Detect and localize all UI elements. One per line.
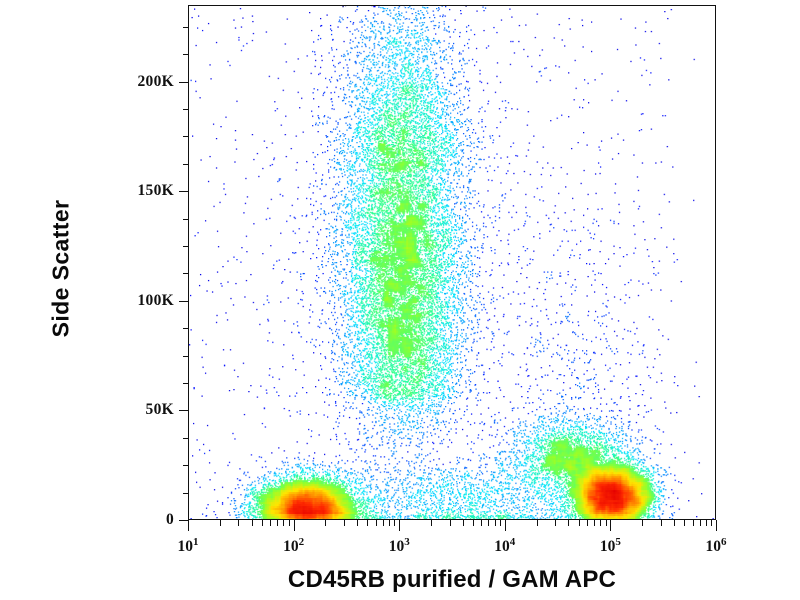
x-tick-minor [594, 520, 595, 526]
x-tick-minor [674, 520, 675, 526]
x-tick-minor [394, 520, 395, 526]
x-tick-minor [252, 520, 253, 526]
x-tick-minor [555, 520, 556, 526]
x-tick-major [294, 520, 295, 531]
x-tick-exponent: 5 [615, 536, 621, 548]
x-tick-minor [537, 520, 538, 526]
x-tick-minor [579, 520, 580, 526]
y-tick-major [179, 82, 188, 83]
flow-cytometry-dot-plot: Side Scatter 050K100K150K200K 1011021031… [0, 0, 800, 600]
x-tick-label: 103 [389, 536, 410, 556]
x-tick-exponent: 3 [404, 536, 410, 548]
x-tick-minor [642, 520, 643, 526]
x-tick-minor [389, 520, 390, 526]
x-tick-major [610, 520, 611, 531]
x-tick-minor [606, 520, 607, 526]
x-tick-major [399, 520, 400, 531]
x-tick-minor [700, 520, 701, 526]
x-tick-minor [283, 520, 284, 526]
x-tick-exponent: 2 [299, 536, 305, 548]
y-tick-major [179, 410, 188, 411]
x-tick-minor [325, 520, 326, 526]
scatter-point-cloud [189, 6, 715, 519]
x-axis: 101102103104105106 CD45RB purified / GAM… [0, 520, 800, 600]
x-axis-title: CD45RB purified / GAM APC [188, 566, 716, 594]
plot-area [188, 5, 716, 520]
x-tick-minor [238, 520, 239, 526]
x-tick-mantissa: 10 [494, 538, 510, 555]
y-tick-label: 150K [137, 182, 174, 200]
x-tick-label: 104 [494, 536, 515, 556]
x-tick-minor [684, 520, 685, 526]
x-tick-mantissa: 10 [178, 538, 194, 555]
x-tick-minor [600, 520, 601, 526]
x-tick-minor [661, 520, 662, 526]
x-tick-minor [450, 520, 451, 526]
y-tick-major [179, 301, 188, 302]
x-tick-minor [495, 520, 496, 526]
x-tick-mantissa: 10 [706, 538, 722, 555]
x-tick-minor [344, 520, 345, 526]
x-tick-minor [693, 520, 694, 526]
x-tick-minor [220, 520, 221, 526]
x-tick-minor [367, 520, 368, 526]
x-tick-minor [277, 520, 278, 526]
x-tick-minor [376, 520, 377, 526]
x-tick-minor [587, 520, 588, 526]
y-tick-label: 50K [146, 401, 174, 419]
x-tick-label: 105 [600, 536, 621, 556]
x-tick-minor [473, 520, 474, 526]
x-tick-minor [481, 520, 482, 526]
x-tick-major [188, 520, 189, 531]
x-tick-label: 106 [706, 536, 727, 556]
x-tick-minor [568, 520, 569, 526]
x-tick-mantissa: 10 [283, 538, 299, 555]
y-tick-major [179, 191, 188, 192]
x-tick-minor [357, 520, 358, 526]
x-tick-minor [706, 520, 707, 526]
x-tick-mantissa: 10 [600, 538, 616, 555]
x-tick-label: 101 [178, 536, 199, 556]
x-tick-exponent: 6 [721, 536, 727, 548]
x-tick-minor [500, 520, 501, 526]
x-tick-minor [488, 520, 489, 526]
x-tick-minor [262, 520, 263, 526]
x-tick-minor [383, 520, 384, 526]
x-tick-minor [270, 520, 271, 526]
x-tick-exponent: 1 [193, 536, 199, 548]
x-tick-minor [289, 520, 290, 526]
x-tick-major [505, 520, 506, 531]
x-tick-exponent: 4 [510, 536, 516, 548]
x-tick-minor [463, 520, 464, 526]
x-tick-mantissa: 10 [389, 538, 405, 555]
x-tick-label: 102 [283, 536, 304, 556]
y-axis: Side Scatter 050K100K150K200K [0, 0, 188, 560]
x-tick-minor [711, 520, 712, 526]
x-tick-minor [431, 520, 432, 526]
y-tick-label: 200K [137, 73, 174, 91]
y-tick-label: 100K [137, 292, 174, 310]
y-axis-title: Side Scatter [48, 154, 75, 384]
x-tick-major [716, 520, 717, 531]
